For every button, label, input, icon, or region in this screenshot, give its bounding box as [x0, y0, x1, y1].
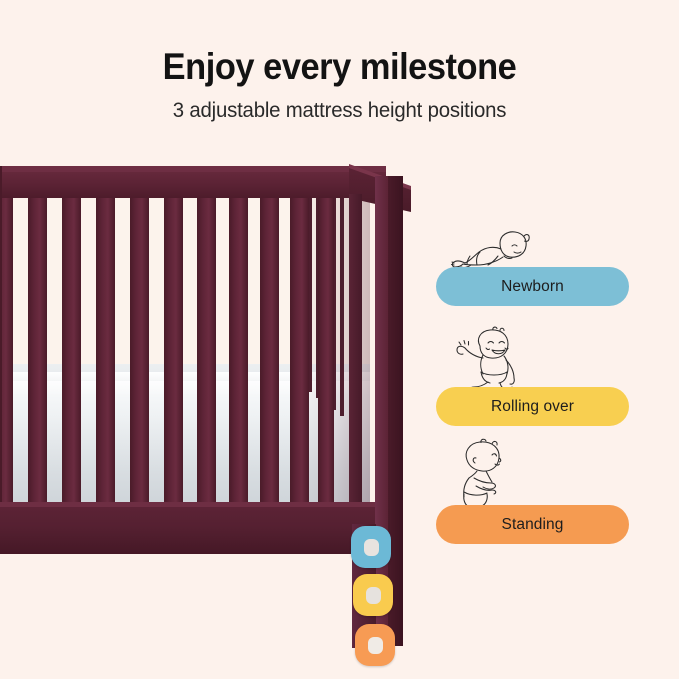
crib-slat	[164, 198, 183, 508]
crib-inner-upright	[349, 194, 362, 524]
milestone-label: Rolling over	[491, 398, 574, 416]
milestone-label: Standing	[502, 516, 564, 534]
crib-back-slat	[340, 186, 344, 416]
crib-slat	[290, 198, 309, 508]
crib-slat	[96, 198, 115, 508]
crib-slat	[197, 198, 216, 508]
milestone-list: Newborn	[436, 226, 636, 556]
crib-interior	[0, 186, 370, 506]
mattress-height-ring-highest	[351, 526, 391, 568]
crib-corner-post-side	[388, 176, 403, 646]
page-subtitle: 3 adjustable mattress height positions	[10, 99, 669, 123]
ring-hole	[364, 539, 379, 556]
milestone-badge-standing[interactable]: Standing	[436, 505, 629, 544]
milestone-label: Newborn	[501, 278, 564, 296]
crib-top-rail-highlight	[0, 166, 386, 172]
crib-bottom-rail	[0, 502, 392, 554]
crib-slat	[28, 198, 47, 508]
crib-slat	[130, 198, 149, 508]
milestone-badge-rolling[interactable]: Rolling over	[436, 387, 629, 426]
mattress-height-ring-lowest	[355, 624, 395, 666]
product-feature-graphic: Enjoy every milestone 3 adjustable mattr…	[0, 0, 679, 679]
baby-sitting-waving-icon	[452, 326, 530, 396]
crib-bottom-rail-highlight	[0, 502, 392, 507]
milestone-badge-newborn[interactable]: Newborn	[436, 267, 629, 306]
crib-left-edge	[0, 166, 2, 554]
ring-hole	[366, 587, 381, 604]
mattress-height-ring-middle	[353, 574, 393, 616]
crib-slat	[229, 198, 248, 508]
crib-illustration	[0, 150, 434, 650]
crib-slat	[62, 198, 81, 508]
page-title: Enjoy every milestone	[24, 46, 655, 88]
ring-hole	[368, 637, 383, 654]
crib-slat	[318, 198, 334, 508]
crib-slat	[260, 198, 279, 508]
